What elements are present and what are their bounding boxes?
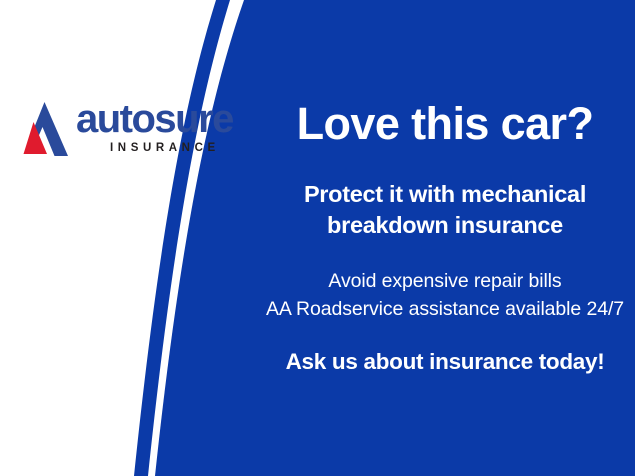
autosure-triangle-mark-icon: [14, 98, 74, 158]
ad-copy-stack: Love this car? Protect it with mechanica…: [255, 0, 635, 476]
subheadline-line-1: Protect it with mechanical: [255, 179, 635, 210]
autosure-insurance-ad-banner: autosure INSURANCE Love this car? Protec…: [0, 0, 635, 476]
body-copy-line-1: Avoid expensive repair bills: [255, 268, 635, 296]
call-to-action-text: Ask us about insurance today!: [255, 349, 635, 375]
body-copy-line-2: AA Roadservice assistance available 24/7: [255, 296, 635, 324]
logo-wordmark: autosure: [76, 96, 226, 142]
subheadline: Protect it with mechanical breakdown ins…: [255, 179, 635, 241]
subheadline-line-2: breakdown insurance: [255, 210, 635, 241]
body-copy: Avoid expensive repair bills AA Roadserv…: [255, 268, 635, 323]
headline: Love this car?: [255, 101, 635, 147]
logo-subword-insurance: INSURANCE: [110, 142, 220, 154]
autosure-logo-lockup: autosure INSURANCE: [14, 96, 226, 168]
